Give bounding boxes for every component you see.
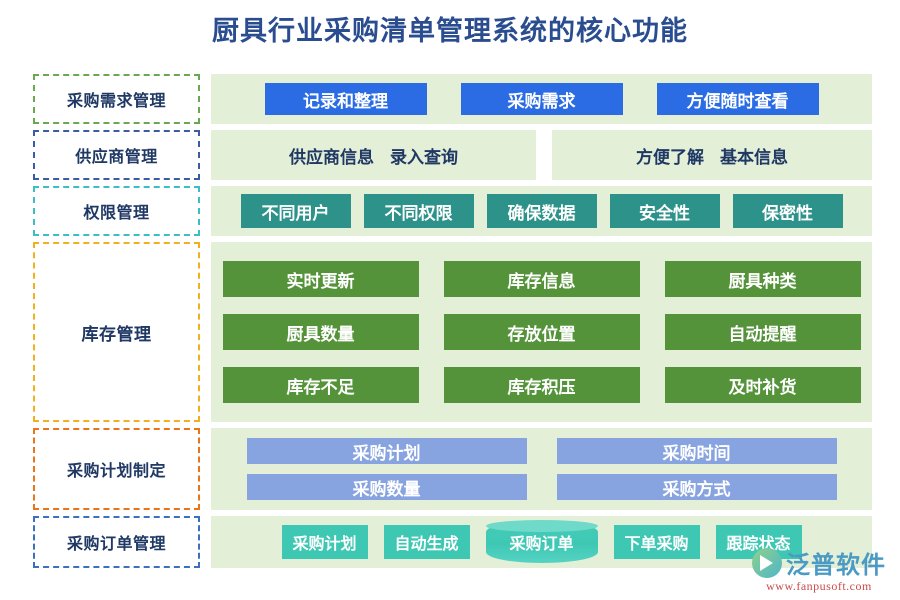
row-label-purchase-demand[interactable]: 采购需求管理: [33, 74, 200, 124]
brand-url: www.fanpusoft.com: [752, 579, 886, 594]
chip-purchase-quantity[interactable]: 采购数量: [247, 474, 527, 500]
chip-understand-basic-info[interactable]: 方便了解 基本信息: [552, 130, 872, 180]
page-title: 厨具行业采购清单管理系统的核心功能: [0, 14, 900, 48]
row-supplier-management: 供应商管理 供应商信息 录入查询 方便了解 基本信息: [33, 130, 872, 180]
chip-auto-reminder[interactable]: 自动提醒: [665, 314, 861, 350]
chip-ensure-data[interactable]: 确保数据: [487, 194, 597, 228]
row-panel-purchase-order: 采购计划 自动生成 采购订单 下单采购 跟踪状态: [211, 516, 872, 568]
infographic-page: 厨具行业采购清单管理系统的核心功能 采购需求管理 记录和整理 采购需求 方便随时…: [0, 0, 900, 600]
chip-supplier-info-entry[interactable]: 供应商信息 录入查询: [211, 130, 536, 180]
row-purchase-demand: 采购需求管理 记录和整理 采购需求 方便随时查看: [33, 74, 872, 124]
chip-text-convenient-understand: 方便了解: [636, 143, 704, 168]
chip-text-basic-info: 基本信息: [720, 143, 788, 168]
chip-inventory-info[interactable]: 库存信息: [444, 261, 640, 297]
chip-purchase-plan[interactable]: 采购计划: [247, 438, 527, 464]
row-panel-supplier-management: 供应商信息 录入查询 方便了解 基本信息: [211, 130, 872, 180]
row-panel-permission-management: 泛普软件 不同用户 不同权限 确保数据 安全性 保密性: [211, 186, 872, 236]
chip-purchase-order-label: 采购订单: [509, 530, 573, 554]
chip-storage-location[interactable]: 存放位置: [444, 314, 640, 350]
chip-purchase-order-database[interactable]: 采购订单: [486, 521, 598, 563]
row-panel-purchase-plan: 采购计划 采购时间 采购数量 采购方式: [211, 428, 872, 510]
row-inventory-management: 库存管理 实时更新 库存信息 厨具种类 厨具数量 存放位置 自动提醒 库存不足 …: [33, 242, 872, 422]
chip-purchase-demand[interactable]: 采购需求: [461, 83, 623, 115]
row-label-supplier-management[interactable]: 供应商管理: [33, 130, 200, 180]
chip-convenient-view[interactable]: 方便随时查看: [657, 83, 819, 115]
chip-text-supplier-info: 供应商信息: [289, 143, 374, 168]
row-purchase-order: 采购订单管理 采购计划 自动生成 采购订单 下单采购 跟踪状态: [33, 516, 872, 568]
row-label-purchase-plan[interactable]: 采购计划制定: [33, 428, 200, 510]
row-panel-inventory-management: 实时更新 库存信息 厨具种类 厨具数量 存放位置 自动提醒 库存不足 库存积压 …: [211, 242, 872, 422]
chip-auto-generate[interactable]: 自动生成: [384, 525, 470, 559]
row-panel-purchase-demand: 记录和整理 采购需求 方便随时查看: [211, 74, 872, 124]
chip-security[interactable]: 安全性: [610, 194, 720, 228]
chip-purchase-method[interactable]: 采购方式: [557, 474, 837, 500]
row-label-permission-management[interactable]: 权限管理: [33, 186, 200, 236]
chip-record-organize[interactable]: 记录和整理: [265, 83, 427, 115]
row-label-inventory-management[interactable]: 库存管理: [33, 242, 200, 422]
row-purchase-plan: 采购计划制定 采购计划 采购时间 采购数量 采购方式: [33, 428, 872, 510]
chip-insufficient-stock[interactable]: 库存不足: [223, 367, 419, 403]
chip-confidentiality[interactable]: 保密性: [733, 194, 843, 228]
chip-realtime-update[interactable]: 实时更新: [223, 261, 419, 297]
chip-order-purchase-plan[interactable]: 采购计划: [282, 525, 368, 559]
chip-place-order[interactable]: 下单采购: [614, 525, 700, 559]
chip-text-entry-query: 录入查询: [390, 143, 458, 168]
chip-track-status[interactable]: 跟踪状态: [716, 525, 802, 559]
chip-timely-replenishment[interactable]: 及时补货: [665, 367, 861, 403]
chip-kitchenware-quantity[interactable]: 厨具数量: [223, 314, 419, 350]
row-label-purchase-order[interactable]: 采购订单管理: [33, 516, 200, 568]
chip-purchase-time[interactable]: 采购时间: [557, 438, 837, 464]
chip-kitchenware-types[interactable]: 厨具种类: [665, 261, 861, 297]
chip-overstock[interactable]: 库存积压: [444, 367, 640, 403]
chip-different-users[interactable]: 不同用户: [241, 194, 351, 228]
chip-different-permissions[interactable]: 不同权限: [364, 194, 474, 228]
row-permission-management: 权限管理 泛普软件 不同用户 不同权限 确保数据 安全性 保密性: [33, 186, 872, 236]
